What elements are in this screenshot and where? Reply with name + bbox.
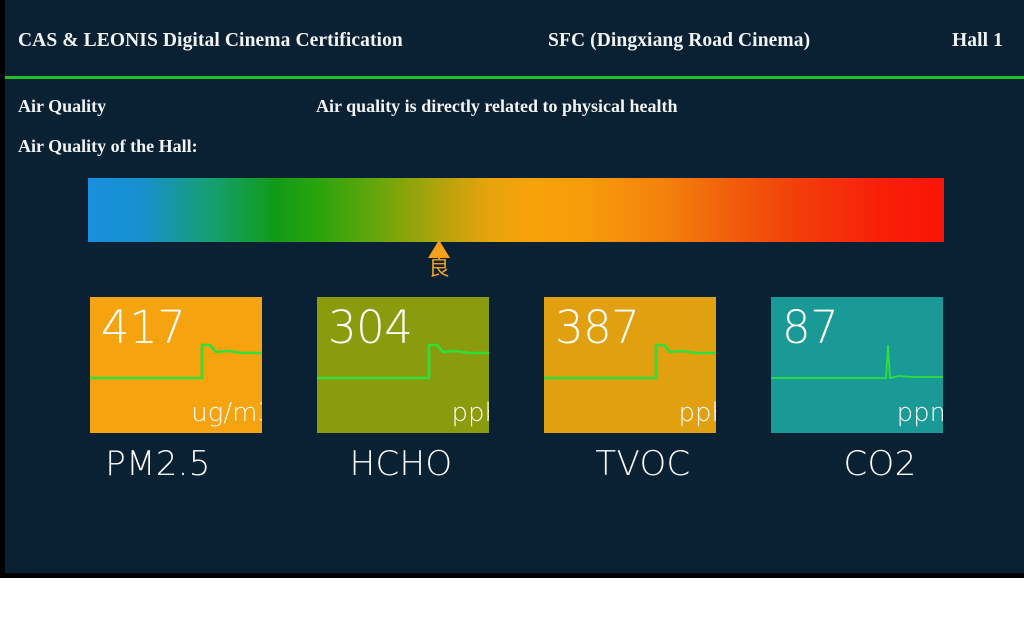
air-quality-marker: 良 [421, 240, 457, 288]
metric-unit: ppb [678, 398, 716, 428]
header-venue-name: SFC (Dingxiang Road Cinema) [548, 30, 810, 52]
metric-unit: ppm [897, 398, 943, 428]
header-hall-label: Hall 1 [952, 30, 1003, 52]
air-quality-marker-label: 良 [421, 256, 457, 280]
dashboard-panel: CAS & LEONIS Digital Cinema Certificatio… [5, 0, 1024, 573]
section-title: Air Quality [18, 96, 106, 117]
air-quality-scale [88, 178, 944, 242]
metric-card-co2[interactable]: 87 ppm [771, 297, 943, 433]
header-divider [5, 76, 1024, 79]
header-bar: CAS & LEONIS Digital Cinema Certificatio… [5, 0, 1024, 78]
metric-card-hcho[interactable]: 304 ppb [317, 297, 489, 433]
air-quality-gradient-bar [88, 178, 944, 242]
metric-caption-co2: CO2 [765, 443, 995, 485]
metric-unit: ppb [451, 398, 489, 428]
section-subtitle: Air Quality of the Hall: [18, 136, 198, 157]
metric-card-pm25[interactable]: 417 ug/m3 [90, 297, 262, 433]
header-certification-title: CAS & LEONIS Digital Cinema Certificatio… [18, 30, 403, 52]
metric-caption-tvoc: TVOC [528, 443, 758, 485]
metric-caption-hcho: HCHO [286, 443, 516, 485]
metric-caption-pm25: PM2.5 [43, 443, 273, 485]
app-screen: CAS & LEONIS Digital Cinema Certificatio… [0, 0, 1024, 629]
metric-card-tvoc[interactable]: 387 ppb [544, 297, 716, 433]
metric-unit: ug/m3 [191, 398, 262, 428]
section-tagline: Air quality is directly related to physi… [316, 96, 678, 117]
